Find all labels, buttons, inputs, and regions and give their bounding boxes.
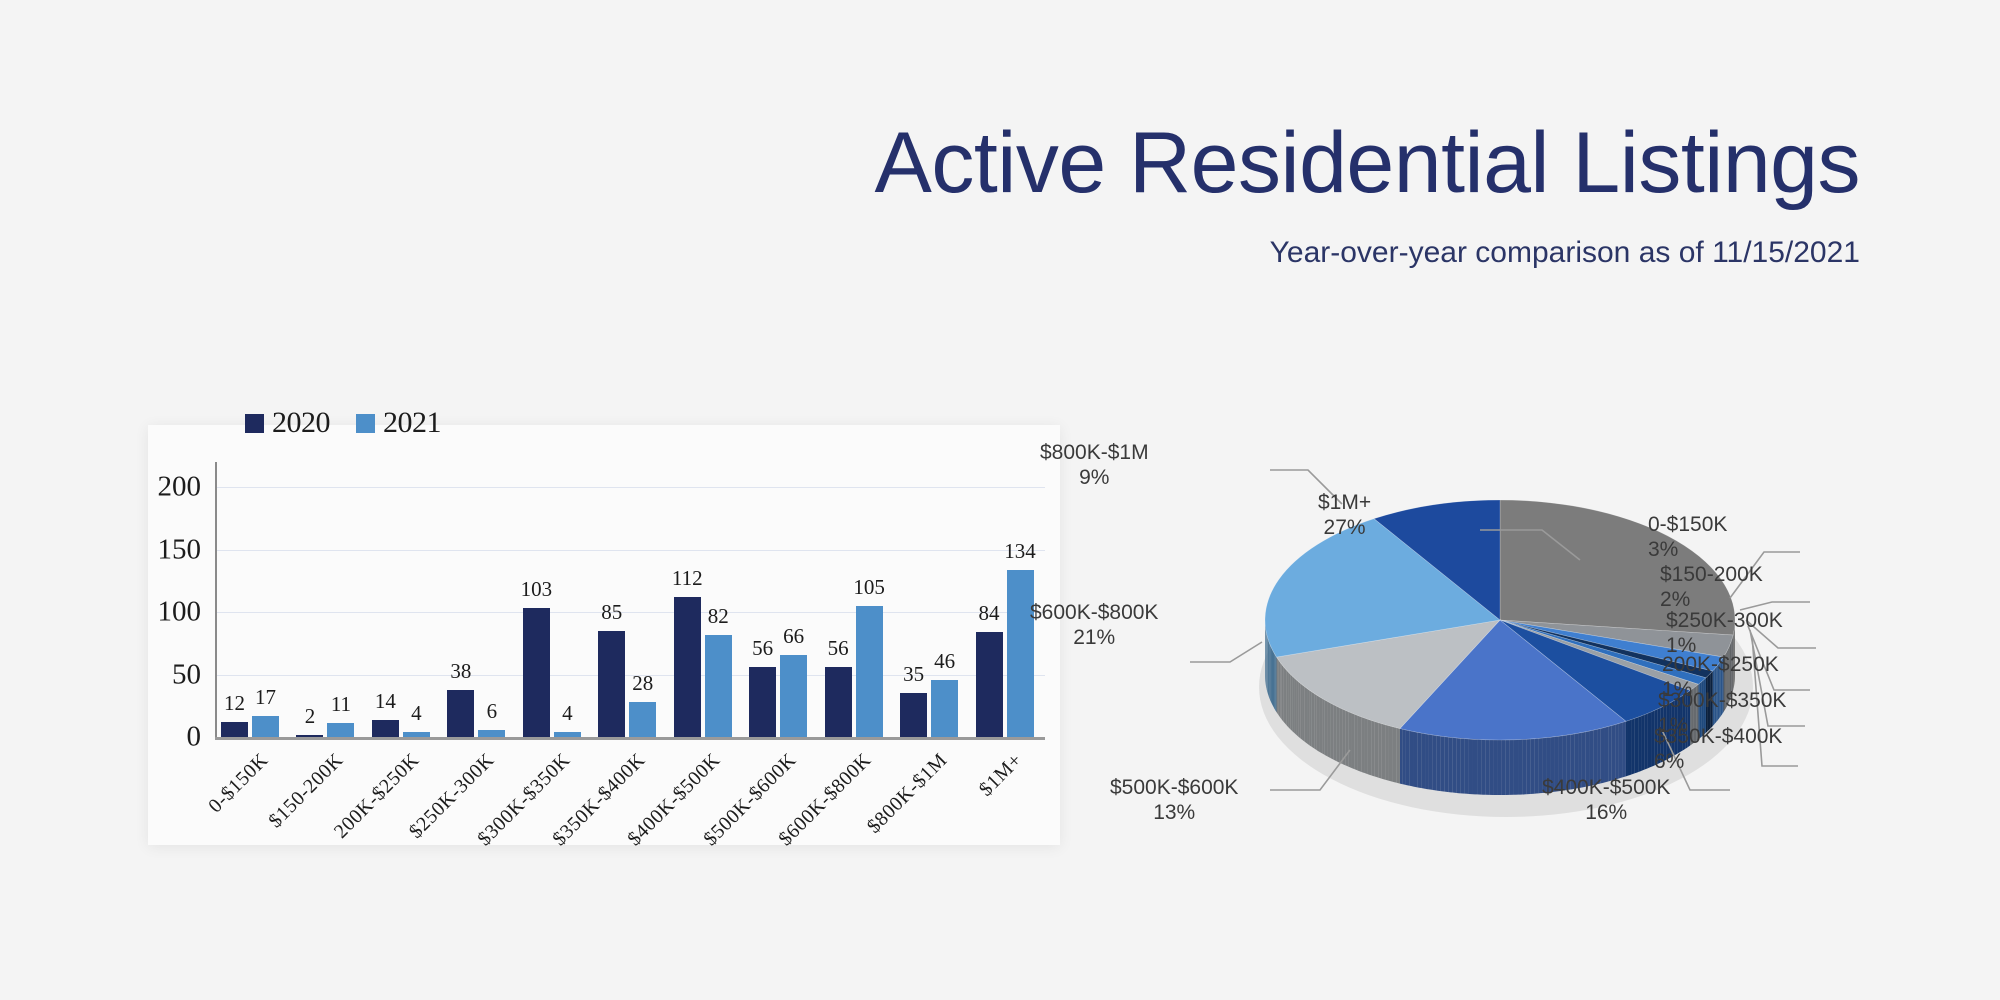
pie-label-percent: 9% (1040, 465, 1149, 490)
pie-slice-side (1425, 734, 1429, 790)
bar-value-label: 28 (632, 671, 653, 696)
pie-slice-side (1612, 725, 1616, 781)
bar-2021[interactable] (252, 716, 279, 737)
bar-value-label: 112 (672, 566, 703, 591)
bar-value-label: 35 (903, 662, 924, 687)
bar-value-label: 103 (521, 577, 553, 602)
pie-slice-side (1465, 739, 1469, 794)
pie-slice-side (1275, 655, 1276, 712)
pie-slice-side (1510, 740, 1514, 795)
bar-value-label: 56 (828, 636, 849, 661)
pie-slice-side (1272, 649, 1273, 706)
pie-slice-side (1290, 674, 1292, 731)
pie-slice-side (1271, 647, 1272, 704)
bar-group: 1034 (517, 462, 592, 737)
pie-slice-side (1288, 672, 1290, 729)
pie-slice-side (1277, 657, 1278, 714)
pie-slice-side (1336, 706, 1339, 762)
pie-slice-side (1393, 727, 1397, 783)
pie-label-name: $600K-$800K (1030, 601, 1158, 624)
legend-entry-2021[interactable]: 2021 (356, 406, 441, 440)
pie-label-name: $800K-$1M (1040, 441, 1149, 464)
bar-2020[interactable] (900, 693, 927, 737)
bar-value-label: 85 (601, 600, 622, 625)
pie-slice-side (1645, 713, 1648, 769)
pie-slice-side (1298, 681, 1300, 738)
pie-label-percent: 13% (1110, 800, 1238, 825)
pie-label-0150K: 0-$150K3% (1648, 512, 1727, 562)
pie-slice-side (1365, 718, 1368, 774)
header: Active Residential Listings Year-over-ye… (0, 0, 2000, 300)
bar-value-label: 105 (853, 575, 885, 600)
bar-value-label: 46 (934, 649, 955, 674)
pie-slice-side (1371, 720, 1374, 776)
bar-value-label: 134 (1004, 539, 1036, 564)
bar-2020[interactable] (598, 631, 625, 737)
bar-group: 11282 (668, 462, 743, 737)
bar-2021[interactable] (1007, 570, 1034, 738)
bar-2021[interactable] (705, 635, 732, 738)
bar-value-label: 14 (375, 689, 396, 714)
pie-slice-side (1631, 718, 1634, 774)
pie-label-500K600K: $500K-$600K13% (1110, 775, 1238, 825)
pie-label-percent: 21% (1030, 625, 1158, 650)
pie-slice-side (1481, 740, 1485, 795)
bar-group: 5666 (743, 462, 818, 737)
pie-slice-side (1526, 739, 1530, 794)
pie-slice-side (1518, 739, 1522, 794)
pie-slice-side (1294, 678, 1296, 735)
bar-value-label: 2 (305, 704, 316, 729)
pie-slice-side (1302, 685, 1304, 742)
pie-slice-side (1382, 724, 1386, 780)
pie-slice-side (1267, 637, 1268, 694)
pie-slice-side (1433, 735, 1437, 791)
pie-slice-side (1375, 722, 1378, 778)
bar-group: 386 (441, 462, 516, 737)
pie-slice-side (1410, 731, 1414, 787)
pie-slice-side (1449, 737, 1453, 792)
pie-label-600K800K: $600K-$800K21% (1030, 600, 1158, 650)
pie-slice-side (1268, 639, 1269, 696)
bar-2020[interactable] (296, 735, 323, 738)
pie-slice-side (1355, 714, 1358, 770)
pie-label-name: $1M+ (1318, 491, 1371, 514)
bar-group: 1217 (215, 462, 290, 737)
pie-label-name: 200K-$250K (1662, 653, 1779, 676)
pie-slice-side (1498, 740, 1502, 795)
bar-value-label: 56 (752, 636, 773, 661)
bar-2021[interactable] (856, 606, 883, 737)
pie-slice-side (1453, 738, 1457, 793)
bar-group: 8528 (592, 462, 667, 737)
y-axis-tick-label: 150 (158, 533, 202, 566)
pie-label-percent: 3% (1648, 537, 1727, 562)
bar-value-label: 4 (411, 701, 422, 726)
pie-slice-side (1287, 670, 1289, 727)
pie-slice-side (1270, 645, 1271, 702)
bar-2021[interactable] (327, 723, 354, 737)
pie-slice-side (1622, 721, 1625, 777)
pie-label-800K1M: $800K-$1M9% (1040, 440, 1149, 490)
pie-slice-side (1489, 740, 1493, 795)
bar-group: 56105 (819, 462, 894, 737)
pie-label-percent: 6% (1654, 749, 1782, 774)
pie-slice-side (1274, 653, 1275, 710)
pie-slice-side (1285, 668, 1287, 725)
y-axis-tick-label: 100 (158, 596, 202, 629)
pie-slice-side (1417, 732, 1421, 788)
pie-slice-side (1429, 734, 1433, 790)
pie-slice-side (1461, 738, 1465, 793)
pie-slice-side (1413, 732, 1417, 788)
pie-label-name: $350K-$400K (1654, 725, 1782, 748)
pie-slice-side (1641, 715, 1644, 771)
pie-slice-side (1296, 680, 1298, 737)
pie-label-percent: 27% (1318, 515, 1371, 540)
bar-2021[interactable] (629, 702, 656, 737)
pie-slice-side (1648, 712, 1651, 768)
pie-slice-side (1279, 661, 1280, 718)
pie-slice-side (1402, 729, 1406, 785)
pie-chart: $1M+27%0-$150K3%$150-200K2%$250K-300K1%2… (1150, 430, 1980, 860)
legend-swatch-icon-2021 (356, 414, 375, 433)
pie-slice-side (1348, 712, 1351, 768)
legend-swatch-icon-2020 (245, 414, 264, 433)
bar-2020[interactable] (674, 597, 701, 737)
bar-2020[interactable] (221, 722, 248, 737)
pie-slice-side (1273, 651, 1274, 708)
pie-slice-side (1300, 683, 1302, 740)
pie-slice-side (1309, 690, 1311, 747)
pie-slice-side (1351, 713, 1354, 769)
pie-slice-side (1312, 692, 1314, 749)
pie-leader-line (1190, 642, 1262, 662)
pie-slice-side (1619, 722, 1623, 778)
pie-slice-side (1330, 703, 1333, 759)
pie-slice-side (1493, 740, 1497, 795)
bar-value-label: 12 (224, 691, 245, 716)
pie-slice-side (1378, 723, 1382, 779)
bar-value-label: 6 (487, 699, 498, 724)
pie-slice-side (1345, 710, 1348, 766)
bar-2021[interactable] (403, 732, 430, 737)
pie-slice-side (1445, 737, 1449, 792)
pie-slice-side (1441, 736, 1445, 792)
pie-label-name: $250K-300K (1666, 609, 1783, 632)
bar-2020[interactable] (447, 690, 474, 738)
pie-slice-side (1361, 717, 1364, 773)
pie-slice-side (1514, 740, 1518, 795)
pie-slice-side (1406, 730, 1410, 786)
page-subtitle: Year-over-year comparison as of 11/15/20… (1270, 238, 1860, 268)
legend-entry-2020[interactable]: 2020 (245, 406, 330, 440)
pie-slice-side (1522, 739, 1526, 794)
pie-slice-side (1267, 635, 1268, 692)
pie-slice-side (1421, 733, 1425, 789)
bar-2020[interactable] (749, 667, 776, 737)
bar-value-label: 66 (783, 624, 804, 649)
pie-label-1M: $1M+27% (1318, 490, 1371, 540)
pie-label-250K300K: $250K-300K1% (1666, 608, 1783, 658)
pie-slice-side (1358, 716, 1361, 772)
pie-slice-side (1635, 717, 1638, 773)
bar-chart: 20202021 050100150200 121721114438610348… (215, 462, 1045, 737)
pie-slice-side (1280, 663, 1281, 720)
legend-label: 2020 (272, 406, 330, 440)
pie-label-name: $300K-$350K (1658, 689, 1786, 712)
pie-slice-side (1319, 697, 1322, 754)
pie-slice-side (1608, 726, 1612, 782)
pie-slice-side (1368, 719, 1371, 775)
bar-2020[interactable] (976, 632, 1003, 737)
pie-label-350K400K: $350K-$400K6% (1654, 724, 1782, 774)
bar-group: 211 (290, 462, 365, 737)
pie-slice-side (1385, 725, 1389, 781)
pie-slice-side (1292, 676, 1294, 733)
y-axis-tick-label: 50 (172, 658, 201, 691)
legend-label: 2021 (383, 406, 441, 440)
pie-label-name: $400K-$500K (1542, 776, 1670, 799)
pie-slice-side (1485, 740, 1489, 795)
bar-2020[interactable] (372, 720, 399, 738)
x-axis-line (215, 737, 1045, 740)
pie-slice-side (1307, 688, 1309, 745)
pie-slice-side (1389, 726, 1393, 782)
bar-value-label: 82 (708, 604, 729, 629)
pie-slice-side (1305, 687, 1307, 744)
bar-2020[interactable] (825, 667, 852, 737)
pie-slice-side (1506, 740, 1510, 795)
pie-slice-side (1469, 739, 1473, 794)
pie-slice-side (1530, 739, 1534, 794)
pie-slice-side (1628, 719, 1631, 775)
pie-slice-side (1283, 667, 1285, 724)
page-title: Active Residential Listings (874, 120, 1860, 206)
pie-slice-side (1502, 740, 1506, 795)
bar-value-label: 84 (979, 601, 1000, 626)
bar-chart-legend: 20202021 (245, 406, 441, 440)
y-axis-tick-label: 0 (187, 721, 202, 754)
pie-slice-side (1269, 643, 1270, 700)
pie-slice-side (1638, 716, 1641, 772)
bar-2021[interactable] (780, 655, 807, 738)
bar-2021[interactable] (554, 732, 581, 737)
bar-group: 3546 (894, 462, 969, 737)
pie-slice-side (1282, 665, 1284, 722)
bar-value-label: 11 (331, 692, 351, 717)
pie-slice-side (1339, 707, 1342, 763)
pie-slice-side (1457, 738, 1461, 793)
bar-value-label: 38 (450, 659, 471, 684)
pie-slice-side (1534, 738, 1538, 793)
bar-2021[interactable] (931, 680, 958, 738)
pie-label-name: 0-$150K (1648, 513, 1727, 536)
y-axis-tick-label: 200 (158, 471, 202, 504)
pie-slice-side (1396, 728, 1400, 784)
bar-2020[interactable] (523, 608, 550, 737)
pie-slice-side (1400, 729, 1402, 785)
pie-slice-side (1333, 705, 1336, 761)
pie-slice-side (1317, 695, 1320, 752)
pie-slice-side (1269, 641, 1270, 698)
pie-label-400K500K: $400K-$500K16% (1542, 775, 1670, 825)
bar-value-label: 4 (562, 701, 573, 726)
pie-slice-side (1477, 739, 1481, 794)
pie-label-name: $500K-$600K (1110, 776, 1238, 799)
pie-slice-side (1325, 700, 1328, 757)
pie-slice-side (1328, 702, 1331, 759)
pie-slice-side (1626, 721, 1628, 777)
pie-slice-side (1314, 694, 1317, 751)
bar-2021[interactable] (478, 730, 505, 738)
pie-slice-side (1322, 698, 1325, 755)
pie-slice-side (1278, 659, 1279, 716)
bar-group: 144 (366, 462, 441, 737)
bar-value-label: 17 (255, 685, 276, 710)
pie-label-150200K: $150-200K2% (1660, 562, 1763, 612)
pie-slice-side (1437, 736, 1441, 792)
pie-slice-side (1615, 724, 1619, 780)
pie-slice-side (1473, 739, 1477, 794)
pie-label-name: $150-200K (1660, 563, 1763, 586)
pie-label-percent: 16% (1542, 800, 1670, 825)
